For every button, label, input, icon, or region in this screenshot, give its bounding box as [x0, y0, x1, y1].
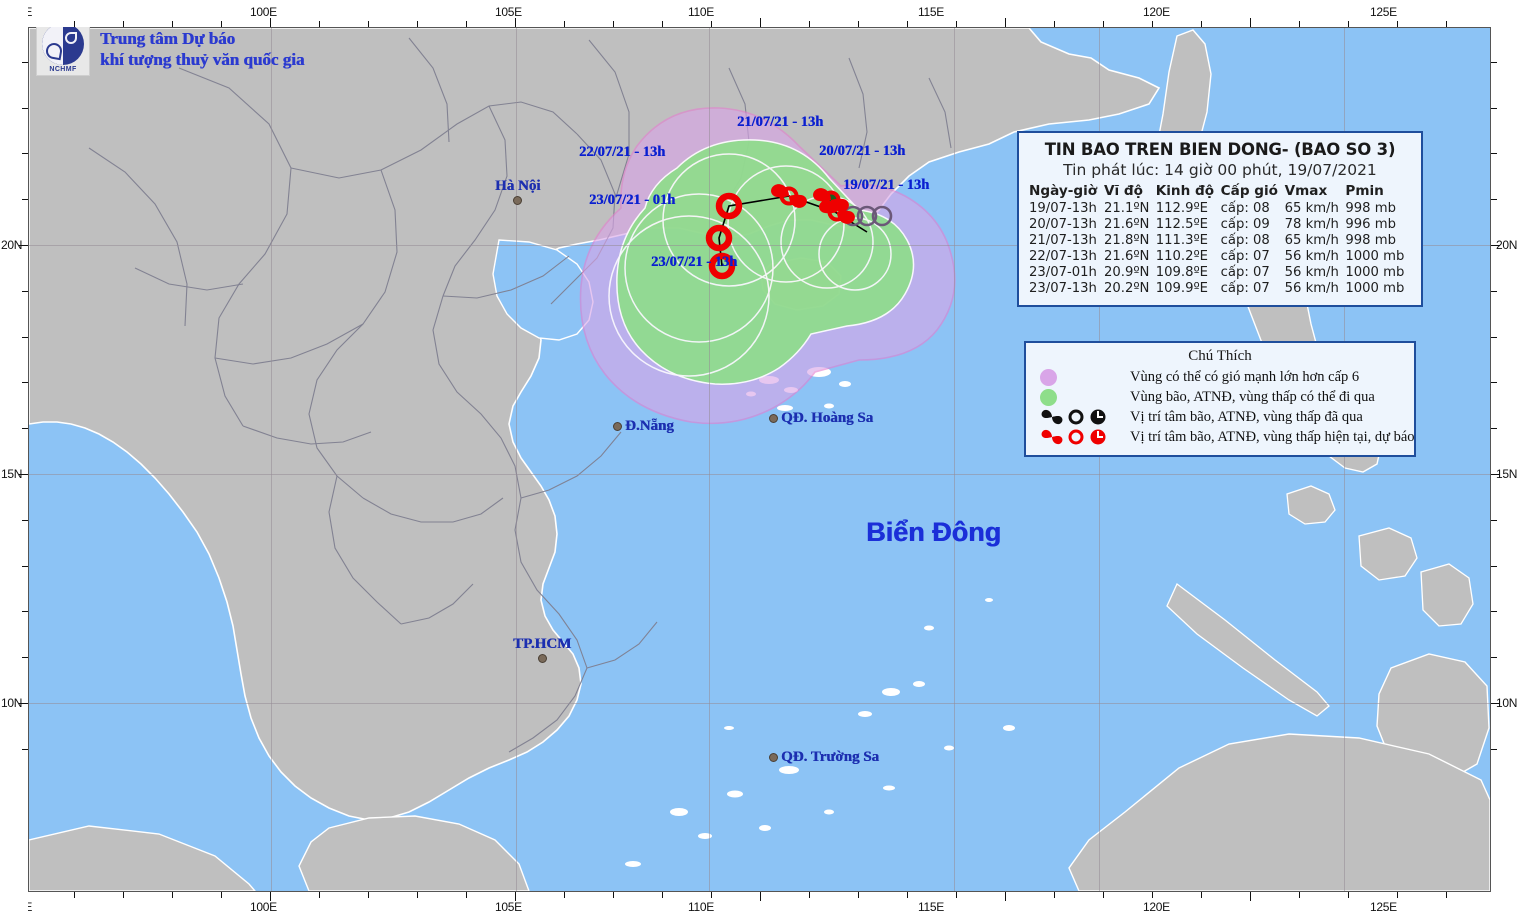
axis-tick [1491, 566, 1497, 567]
city-dot-icon [513, 196, 522, 205]
legend-panel: Chú Thích Vùng có thể có gió mạnh lớn hơ… [1024, 341, 1416, 457]
place-label-ha-noi: Hà Nội [495, 178, 540, 195]
axis-tick [19, 703, 28, 704]
cell-vmax: 65 km/h [1285, 200, 1346, 216]
cell-latitude: 20.2ºN [1104, 280, 1156, 296]
col-header-datetime: Ngày-giờ [1029, 183, 1104, 200]
col-header-pmin: Pmin [1345, 183, 1411, 200]
axis-tick [22, 382, 28, 383]
logo-disc [42, 23, 84, 65]
axis-tick [1491, 62, 1497, 63]
axis-tick [221, 21, 222, 27]
lon-tick-label-bottom-125e: 125E [1370, 900, 1397, 914]
longitude-axis-top: 100E 105E 110E 115E 120E 125E 5E 25N 25N [0, 0, 1519, 27]
axis-tick [319, 892, 320, 898]
axis-tick [22, 657, 28, 658]
axis-tick [662, 21, 663, 27]
lon-tick-label-120e: 120E [1143, 5, 1170, 19]
col-header-longitude: Kinh độ [1156, 183, 1221, 200]
axis-tick [515, 18, 516, 27]
axis-tick [1446, 892, 1447, 898]
lon-tick-label-125e: 125E [1370, 5, 1397, 19]
axis-tick [22, 520, 28, 521]
axis-tick [1250, 892, 1251, 901]
storm-info-panel: TIN BAO TREN BIEN DONG- (BAO SO 3) Tin p… [1017, 131, 1423, 307]
info-panel-subtitle: Tin phát lúc: 14 giờ 00 phút, 19/07/2021 [1029, 161, 1411, 179]
col-header-latitude: Vĩ độ [1104, 183, 1156, 200]
axis-tick [466, 892, 467, 898]
axis-tick [1491, 520, 1497, 521]
axis-tick [1491, 382, 1497, 383]
cell-wind-level: cấp: 07 [1221, 264, 1285, 280]
cell-wind-level: cấp: 08 [1221, 232, 1285, 248]
info-panel-title: TIN BAO TREN BIEN DONG- (BAO SO 3) [1029, 140, 1411, 159]
axis-tick [22, 291, 28, 292]
axis-tick [74, 892, 75, 898]
cell-datetime: 22/07-13h [1029, 248, 1104, 264]
axis-tick [809, 21, 810, 27]
axis-tick [22, 749, 28, 750]
city-dot-icon [538, 654, 547, 663]
cell-pmin: 1000 mb [1345, 264, 1411, 280]
cell-datetime: 23/07-13h [1029, 280, 1104, 296]
axis-tick [1299, 892, 1300, 898]
axis-tick [1201, 21, 1202, 27]
cell-longitude: 110.2ºE [1156, 248, 1221, 264]
place-ha-noi: Hà Nội [495, 178, 540, 205]
forecast-table: Ngày-giờ Vĩ độ Kinh độ Cấp gió Vmax Pmin… [1029, 183, 1411, 296]
axis-tick [613, 892, 614, 898]
track-label-20-07: 20/07/21 - 13h [819, 143, 905, 160]
axis-tick [1491, 657, 1497, 658]
graticule-lat-10n [29, 703, 1490, 704]
axis-tick [809, 892, 810, 898]
axis-tick [1005, 18, 1006, 27]
cell-wind-level: cấp: 07 [1221, 248, 1285, 264]
axis-tick [1152, 892, 1153, 898]
axis-tick [1491, 337, 1497, 338]
axis-tick [1299, 21, 1300, 27]
red-storm-symbols-icon [1034, 427, 1130, 447]
place-truong-sa: QĐ. Trường Sa [769, 749, 879, 766]
axis-tick [1491, 245, 1500, 246]
axis-tick [858, 21, 859, 27]
axis-tick [1054, 892, 1055, 898]
axis-tick [711, 892, 712, 898]
place-hoang-sa: QĐ. Hoàng Sa [769, 410, 873, 427]
axis-tick [564, 21, 565, 27]
axis-tick [858, 892, 859, 898]
cell-datetime: 19/07-13h [1029, 200, 1104, 216]
agency-name-line2: khí tượng thuỷ văn quốc gia [100, 49, 304, 70]
axis-tick [956, 892, 957, 898]
axis-tick [956, 21, 957, 27]
forecast-table-body: 19/07-13h 21.1ºN 112.9ºE cấp: 08 65 km/h… [1029, 200, 1411, 296]
cell-pmin: 1000 mb [1345, 280, 1411, 296]
lon-tick-label-100e: 100E [250, 5, 277, 19]
purple-circle-swatch-icon [1034, 369, 1130, 386]
col-header-wind-level: Cấp gió [1221, 183, 1285, 200]
track-label-23-07-01h: 23/07/21 - 01h [589, 192, 675, 209]
cell-pmin: 996 mb [1345, 216, 1411, 232]
axis-tick [1152, 21, 1153, 27]
cell-longitude: 111.3ºE [1156, 232, 1221, 248]
lon-tick-label-bottom-100e: 100E [250, 900, 277, 914]
cell-latitude: 21.6ºN [1104, 216, 1156, 232]
cell-datetime: 20/07-13h [1029, 216, 1104, 232]
axis-tick [1054, 21, 1055, 27]
cell-wind-level: cấp: 08 [1221, 200, 1285, 216]
agency-name: Trung tâm Dự báo khí tượng thuỷ văn quốc… [100, 28, 304, 71]
place-tp-hcm: TP.HCM [513, 636, 571, 663]
axis-tick [19, 474, 28, 475]
cell-pmin: 998 mb [1345, 200, 1411, 216]
axis-tick [368, 21, 369, 27]
axis-tick [22, 611, 28, 612]
axis-tick [564, 892, 565, 898]
axis-tick [1491, 749, 1497, 750]
island-dot-icon [769, 414, 778, 423]
axis-tick [22, 108, 28, 109]
col-header-vmax: Vmax [1285, 183, 1346, 200]
axis-tick [907, 892, 908, 898]
legend-item-storm-area: Vùng bão, ATNĐ, vùng thấp có thể đi qua [1034, 387, 1406, 407]
agency-logo-block: NCHMF Trung tâm Dự báo khí tượng thuỷ vă… [36, 22, 304, 76]
island-dot-icon [769, 753, 778, 762]
axis-tick [22, 428, 28, 429]
axis-tick [221, 892, 222, 898]
graticule-lon-115e [954, 28, 955, 891]
axis-tick [1491, 291, 1497, 292]
axis-tick [1005, 892, 1006, 901]
axis-tick [1491, 108, 1497, 109]
cell-latitude: 21.6ºN [1104, 248, 1156, 264]
cell-vmax: 78 km/h [1285, 216, 1346, 232]
storm-forecast-map: 19/07/21 - 13h 20/07/21 - 13h 21/07/21 -… [0, 0, 1519, 919]
cell-vmax: 56 km/h [1285, 280, 1346, 296]
lon-tick-label-bottom-120e: 120E [1143, 900, 1170, 914]
logo-wave-shape [45, 41, 64, 60]
legend-label-current-positions: Vị trí tâm bão, ATNĐ, vùng thấp hiện tại… [1130, 429, 1415, 446]
graticule-lon-100e [271, 28, 272, 891]
axis-tick [1446, 21, 1447, 27]
axis-tick [1397, 892, 1398, 898]
track-label-21-07: 21/07/21 - 13h [737, 114, 823, 131]
axis-tick [1103, 21, 1104, 27]
cell-latitude: 21.1ºN [1104, 200, 1156, 216]
axis-tick [319, 21, 320, 27]
axis-tick [19, 245, 28, 246]
axis-tick [1491, 199, 1497, 200]
place-label-truong-sa: QĐ. Trường Sa [781, 749, 879, 766]
city-dot-icon [613, 422, 622, 431]
graticule-lon-105e [516, 28, 517, 891]
place-label-da-nang: Đ.Nẵng [625, 418, 674, 435]
green-circle-swatch-icon [1034, 389, 1130, 406]
latitude-axis-left: 20N 15N 10N [0, 0, 28, 919]
lon-tick-label-115e: 115E [918, 5, 944, 19]
axis-tick [172, 21, 173, 27]
track-label-19-07: 19/07/21 - 13h [843, 177, 929, 194]
axis-tick [466, 21, 467, 27]
axis-tick [22, 199, 28, 200]
axis-tick [22, 62, 28, 63]
legend-title: Chú Thích [1034, 348, 1406, 365]
cell-latitude: 21.8ºN [1104, 232, 1156, 248]
axis-tick [74, 21, 75, 27]
legend-label-storm-area: Vùng bão, ATNĐ, vùng thấp có thể đi qua [1130, 389, 1375, 406]
cell-wind-level: cấp: 07 [1221, 280, 1285, 296]
place-label-tp-hcm: TP.HCM [513, 636, 571, 653]
axis-tick [1348, 21, 1349, 27]
axis-tick [270, 18, 271, 27]
cell-vmax: 56 km/h [1285, 248, 1346, 264]
logo-swirl-shape [65, 32, 77, 44]
place-da-nang: Đ.Nẵng [613, 418, 674, 435]
axis-tick [515, 892, 516, 901]
axis-tick [417, 21, 418, 27]
sea-name-label: Biển Đông [866, 517, 1001, 548]
axis-tick [123, 21, 124, 27]
storm-marker-20-07-13h[interactable] [815, 190, 859, 234]
latitude-axis-right: 20N 15N 10N [1491, 0, 1519, 919]
axis-tick [1491, 474, 1500, 475]
table-row: 22/07-13h 21.6ºN 110.2ºE cấp: 07 56 km/h… [1029, 248, 1411, 264]
cell-longitude: 112.9ºE [1156, 200, 1221, 216]
axis-tick [760, 18, 761, 27]
lon-tick-label-bottom-115e: 115E [918, 900, 944, 914]
track-label-23-07-13h: 23/07/21 - 13h [651, 254, 737, 271]
lon-tick-label-110e: 110E [688, 5, 714, 19]
place-label-hoang-sa: QĐ. Hoàng Sa [781, 410, 873, 427]
axis-tick [1103, 892, 1104, 898]
lon-tick-label-105e: 105E [495, 5, 522, 19]
axis-tick [22, 337, 28, 338]
storm-marker-21-07-13h[interactable] [767, 174, 811, 218]
cell-longitude: 112.5ºE [1156, 216, 1221, 232]
legend-label-strong-wind: Vùng có thể có gió mạnh lớn hơn cấp 6 [1130, 369, 1359, 386]
lon-tick-label-bottom-110e: 110E [688, 900, 714, 914]
legend-item-strong-wind: Vùng có thể có gió mạnh lớn hơn cấp 6 [1034, 367, 1406, 387]
axis-tick [22, 153, 28, 154]
axis-tick [1250, 18, 1251, 27]
axis-tick [613, 21, 614, 27]
nchmf-logo-icon: NCHMF [36, 22, 90, 76]
axis-tick [1201, 892, 1202, 898]
cell-datetime: 21/07-13h [1029, 232, 1104, 248]
axis-tick [368, 892, 369, 898]
cell-latitude: 20.9ºN [1104, 264, 1156, 280]
forecast-table-header-row: Ngày-giờ Vĩ độ Kinh độ Cấp gió Vmax Pmin [1029, 183, 1411, 200]
agency-name-line1: Trung tâm Dự báo [100, 28, 304, 49]
axis-tick [270, 892, 271, 901]
cell-vmax: 56 km/h [1285, 264, 1346, 280]
cell-wind-level: cấp: 09 [1221, 216, 1285, 232]
axis-tick [907, 21, 908, 27]
cell-datetime: 23/07-01h [1029, 264, 1104, 280]
axis-tick [22, 566, 28, 567]
lon-tick-label-bottom-105e: 105E [495, 900, 522, 914]
longitude-axis-bottom: 100E 105E 110E 115E 120E 125E 5E [0, 892, 1519, 919]
axis-tick [417, 892, 418, 898]
axis-tick [711, 21, 712, 27]
cell-vmax: 65 km/h [1285, 232, 1346, 248]
axis-tick [760, 892, 761, 901]
graticule-lat-15n [29, 474, 1490, 475]
track-label-22-07: 22/07/21 - 13h [579, 144, 665, 161]
cell-longitude: 109.8ºE [1156, 264, 1221, 280]
axis-tick [123, 892, 124, 898]
axis-tick [1397, 21, 1398, 27]
legend-item-past-positions: Vị trí tâm bão, ATNĐ, vùng thấp đã qua [1034, 407, 1406, 427]
cell-longitude: 109.9ºE [1156, 280, 1221, 296]
table-row: 20/07-13h 21.6ºN 112.5ºE cấp: 09 78 km/h… [1029, 216, 1411, 232]
legend-label-past-positions: Vị trí tâm bão, ATNĐ, vùng thấp đã qua [1130, 409, 1363, 426]
table-row: 21/07-13h 21.8ºN 111.3ºE cấp: 08 65 km/h… [1029, 232, 1411, 248]
axis-tick [1491, 703, 1500, 704]
axis-tick [662, 892, 663, 898]
cell-pmin: 1000 mb [1345, 248, 1411, 264]
legend-item-current-positions: Vị trí tâm bão, ATNĐ, vùng thấp hiện tại… [1034, 427, 1406, 447]
cell-pmin: 998 mb [1345, 232, 1411, 248]
table-row: 23/07-01h 20.9ºN 109.8ºE cấp: 07 56 km/h… [1029, 264, 1411, 280]
table-row: 23/07-13h 20.2ºN 109.9ºE cấp: 07 56 km/h… [1029, 280, 1411, 296]
logo-abbrev-label: NCHMF [49, 66, 76, 73]
graticule-lon-110e [709, 28, 710, 891]
axis-tick [1491, 428, 1497, 429]
axis-tick [1348, 892, 1349, 898]
axis-tick [172, 892, 173, 898]
table-row: 19/07-13h 21.1ºN 112.9ºE cấp: 08 65 km/h… [1029, 200, 1411, 216]
axis-tick [1491, 611, 1497, 612]
black-storm-symbols-icon [1034, 407, 1130, 427]
axis-tick [1491, 153, 1497, 154]
